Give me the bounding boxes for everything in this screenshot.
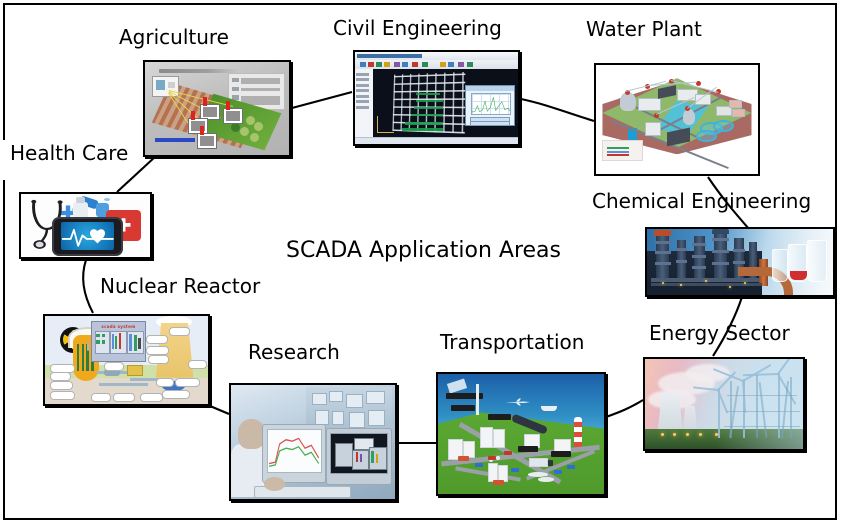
node-label-energy-sector: Energy Sector <box>649 322 790 344</box>
thumbnail-energy-sector[interactable] <box>643 357 805 451</box>
scada-application-areas-diagram: SCADA Application Areas Agriculture Civi… <box>0 0 842 525</box>
node-label-water-plant: Water Plant <box>586 18 702 40</box>
cad-statusbar <box>355 137 518 144</box>
agriculture-footer-text <box>155 138 195 142</box>
node-label-health-care: Health Care <box>10 142 128 164</box>
nuclear-scada-panel: scada system <box>91 321 147 362</box>
thumbnail-health-care[interactable] <box>19 192 152 259</box>
thumbnail-transportation[interactable] <box>436 372 606 496</box>
cad-model-tree <box>355 69 374 138</box>
cad-axis-indicator <box>377 116 394 133</box>
thumbnail-civil-engineering[interactable] <box>353 50 520 146</box>
node-label-agriculture: Agriculture <box>119 26 229 48</box>
nuclear-generator <box>127 365 144 376</box>
transmission-pylon-3 <box>790 377 792 438</box>
energy-cooling-tower-1 <box>658 393 683 433</box>
thumbnail-research[interactable] <box>229 383 397 501</box>
node-label-nuclear-reactor: Nuclear Reactor <box>100 275 260 297</box>
agriculture-heading-bar <box>159 69 238 74</box>
thumbnail-nuclear-reactor[interactable]: scada system <box>43 314 210 406</box>
research-monitor-scada <box>326 428 392 485</box>
node-label-civil-engineering: Civil Engineering <box>333 17 502 39</box>
thumbnail-agriculture[interactable] <box>143 60 291 157</box>
cad-viewport <box>373 69 518 138</box>
health-care-smartphone <box>52 217 123 256</box>
water-plant-elevated-tank <box>620 92 636 111</box>
cad-response-chart <box>465 85 515 126</box>
node-label-chemical-engineering: Chemical Engineering <box>592 190 811 212</box>
transportation-lighthouse <box>574 417 582 447</box>
diagram-title: SCADA Application Areas <box>286 239 561 263</box>
transmission-pylon-2 <box>756 375 758 438</box>
water-plant-legend <box>602 140 643 161</box>
wind-turbine-mast-3 <box>778 372 780 439</box>
node-label-transportation: Transportation <box>440 331 584 353</box>
research-monitor-trend <box>262 424 326 483</box>
transportation-aircraft <box>504 391 534 399</box>
frame-gap-health-care <box>0 140 9 180</box>
thumbnail-chemical-engineering[interactable] <box>645 227 835 297</box>
node-label-research: Research <box>248 341 340 363</box>
thumbnail-water-plant[interactable] <box>594 63 760 176</box>
transportation-radio-mast <box>476 384 479 415</box>
